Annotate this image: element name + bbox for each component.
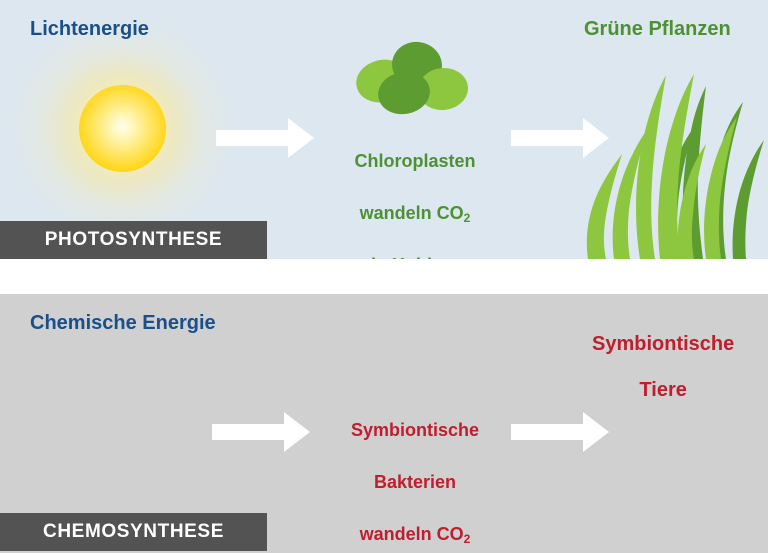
panel-photosynthesis: Lichtenergie Chloroplasten wandeln CO2 i…: [0, 0, 768, 259]
process-label-photosynthesis: PHOTOSYNTHESE: [45, 229, 222, 251]
caption-chloroplasts: Chloroplasten wandeln CO2 in Kohlen- hyd…: [318, 122, 512, 259]
heading-green-plants: Grüne Pflanzen: [584, 18, 731, 41]
heading-chemical-energy: Chemische Energie: [30, 312, 216, 335]
caption-line-1: Chloroplasten: [318, 148, 512, 174]
caption-line-3-text: wandeln CO: [360, 524, 464, 544]
arrow-light-to-chloroplast: [216, 118, 314, 158]
process-label-chemosynthesis: CHEMOSYNTHESE: [43, 521, 224, 543]
caption-line-1: Symbiontische: [318, 417, 512, 443]
caption-line-3-subscript: 2: [464, 532, 471, 546]
caption-line-2: wandeln CO2: [318, 200, 512, 226]
sun-icon: [79, 85, 166, 172]
process-band-photosynthesis: PHOTOSYNTHESE: [0, 221, 267, 259]
caption-line-2-text: wandeln CO: [360, 203, 464, 223]
process-band-chemosynthesis: CHEMOSYNTHESE: [0, 513, 267, 551]
grass-icon: [560, 48, 768, 259]
heading-symbiotic-animals-line2: Tiere: [592, 379, 734, 402]
caption-line-2: Bakterien: [318, 469, 512, 495]
panel-separator: [0, 259, 768, 294]
chloroplast-cluster-icon: [356, 42, 468, 114]
caption-bacteria: Symbiontische Bakterien wandeln CO2 in K…: [318, 391, 512, 553]
arrow-chemical-to-bacteria: [212, 412, 310, 452]
panel-chemosynthesis: Chemische Energie Symbiontische Bakterie…: [0, 294, 768, 553]
caption-line-2-subscript: 2: [464, 211, 471, 225]
heading-symbiotic-animals: Symbiontische Tiere: [592, 310, 734, 425]
heading-light-energy: Lichtenergie: [30, 18, 149, 41]
heading-symbiotic-animals-line1: Symbiontische: [592, 333, 734, 356]
caption-line-3: wandeln CO2: [318, 521, 512, 547]
infographic-root: Lichtenergie Chloroplasten wandeln CO2 i…: [0, 0, 768, 553]
